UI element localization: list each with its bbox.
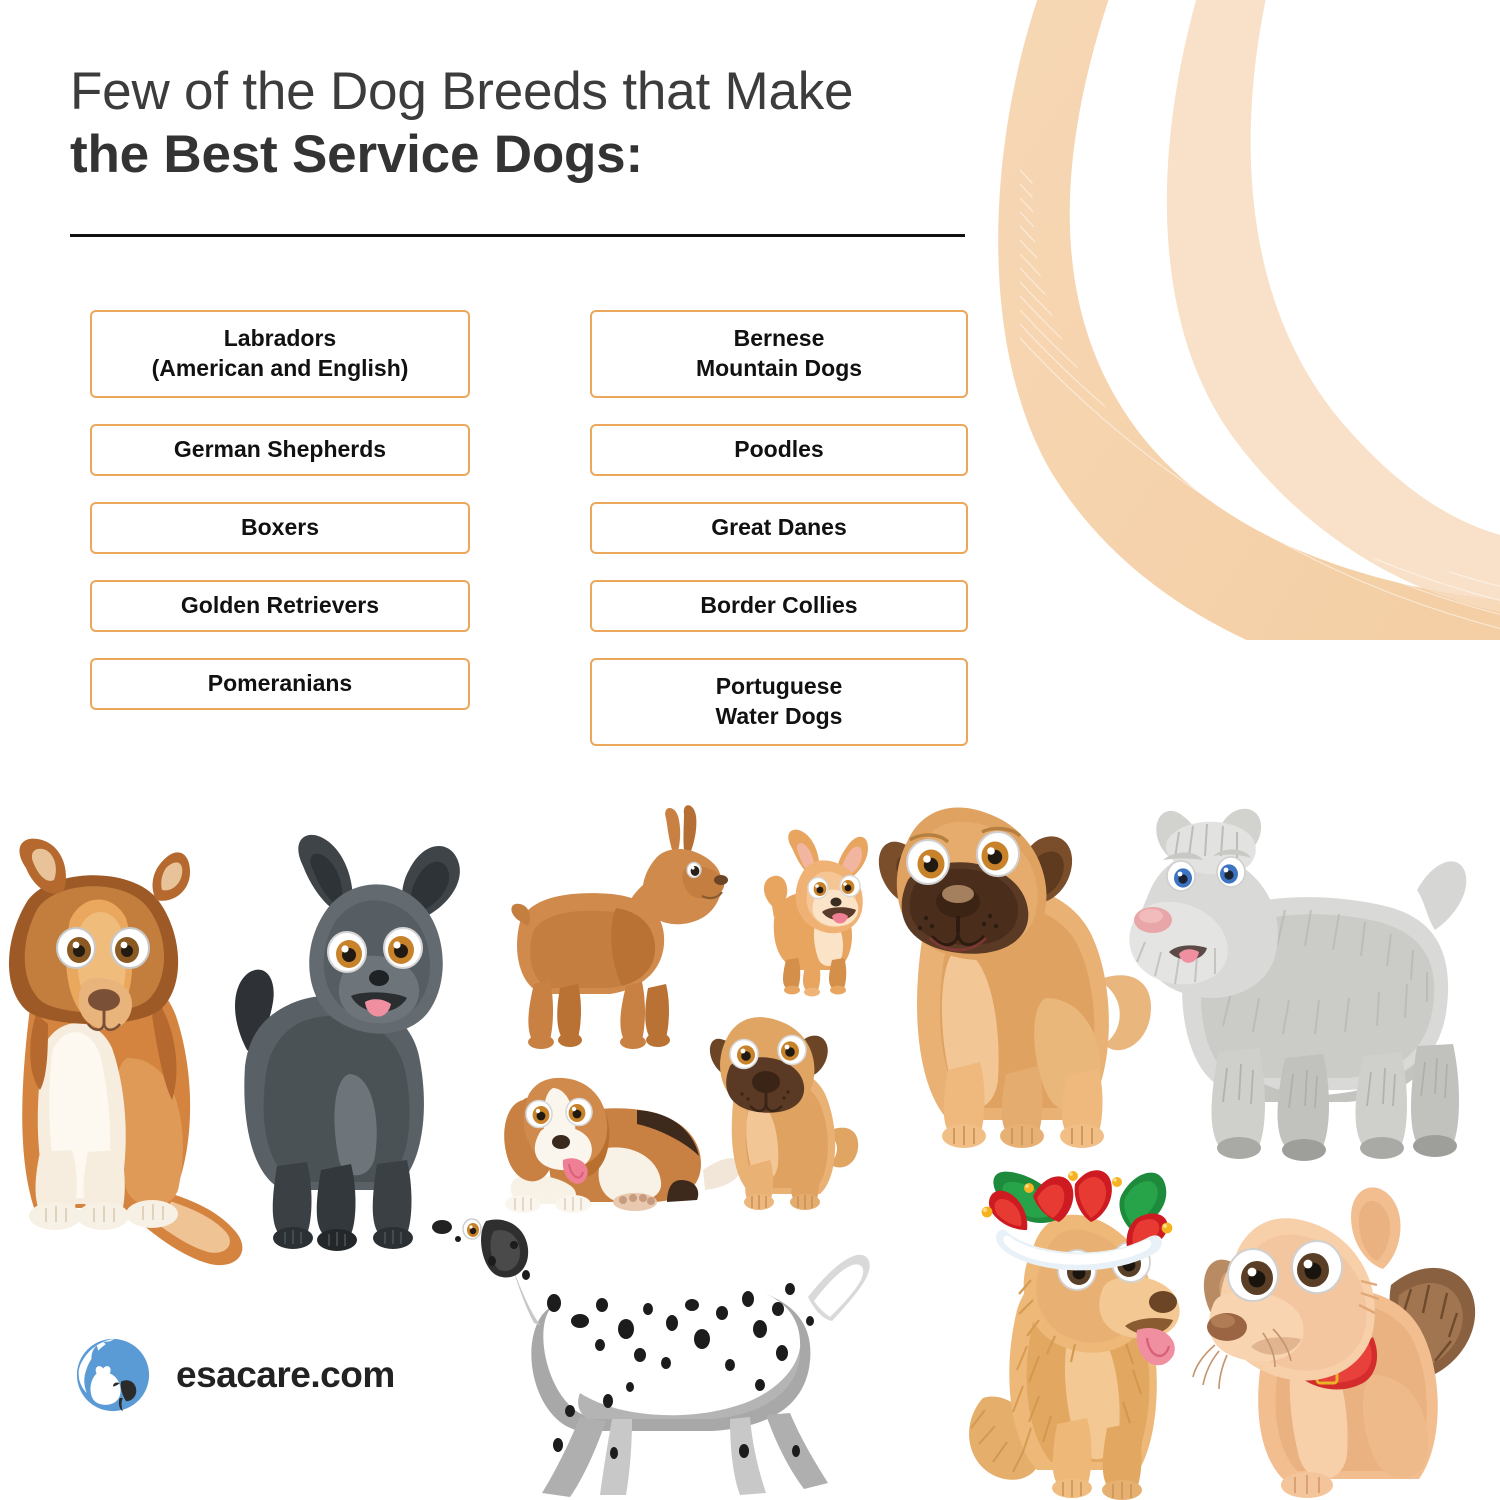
breed-box-great-danes[interactable]: Great Danes	[590, 502, 968, 554]
breed-label-line1: Pomeranians	[208, 669, 352, 699]
swoosh-hatching	[1020, 0, 1500, 638]
breed-label-line2: Mountain Dogs	[696, 354, 862, 384]
brand-name: esacare.com	[176, 1354, 395, 1396]
breed-label-line1: Labradors	[224, 325, 336, 351]
footer-branding: esacare.com	[72, 1334, 395, 1416]
golden-retriever-jester-hat	[975, 1170, 1225, 1500]
title-divider	[70, 234, 965, 237]
breed-label-line1: Boxers	[241, 513, 319, 543]
breed-box-border-collies[interactable]: Border Collies	[590, 580, 968, 632]
mastiff-puppy-sitting	[700, 1002, 870, 1212]
breed-label-line1: Portuguese	[716, 673, 843, 699]
page-title: Few of the Dog Breeds that Make the Best…	[70, 62, 970, 185]
title-line-2: the Best Service Dogs:	[70, 125, 970, 184]
breed-label-line1: German Shepherds	[174, 435, 386, 465]
infographic-poster: Few of the Dog Breeds that Make the Best…	[0, 0, 1500, 1500]
breed-box-labradors[interactable]: Labradors (American and English)	[90, 310, 470, 398]
breed-label-line2: Water Dogs	[716, 702, 843, 732]
breed-label-line1: Bernese	[734, 325, 825, 351]
doberman-standing	[498, 812, 728, 1052]
breed-box-boxers[interactable]: Boxers	[90, 502, 470, 554]
decorative-swoosh	[980, 0, 1500, 640]
breed-box-portuguese-water-dogs[interactable]: Portuguese Water Dogs	[590, 658, 968, 746]
black-chihuahua-standing	[225, 830, 470, 1260]
breed-box-poodles[interactable]: Poodles	[590, 424, 968, 476]
breed-label-line1: Great Danes	[711, 513, 847, 543]
swoosh-ribbons	[998, 0, 1500, 640]
title-line-1: Few of the Dog Breeds that Make	[70, 62, 970, 121]
breed-label-line2: (American and English)	[152, 354, 409, 384]
breed-box-german-shepherds[interactable]: German Shepherds	[90, 424, 470, 476]
breed-list-left: Labradors (American and English) German …	[90, 310, 470, 736]
tan-puppy-red-collar	[1195, 1185, 1495, 1500]
breed-box-golden-retrievers[interactable]: Golden Retrievers	[90, 580, 470, 632]
rough-collie-sitting	[0, 808, 255, 1278]
breed-label-line1: Poodles	[734, 435, 823, 465]
breed-list-right: Bernese Mountain Dogs Poodles Great Dane…	[590, 310, 968, 772]
breed-box-bernese-mountain-dogs[interactable]: Bernese Mountain Dogs	[590, 310, 968, 398]
breed-label-line1: Border Collies	[700, 591, 857, 621]
breed-box-pomeranians[interactable]: Pomeranians	[90, 658, 470, 710]
schnauzer-standing	[1135, 802, 1480, 1172]
esacare-logo	[72, 1334, 154, 1416]
mastiff-adult-sitting	[870, 790, 1170, 1160]
dalmatian-walking	[430, 1205, 900, 1500]
breed-label-line1: Golden Retrievers	[181, 591, 379, 621]
chihuahua-small-standing	[760, 828, 875, 998]
